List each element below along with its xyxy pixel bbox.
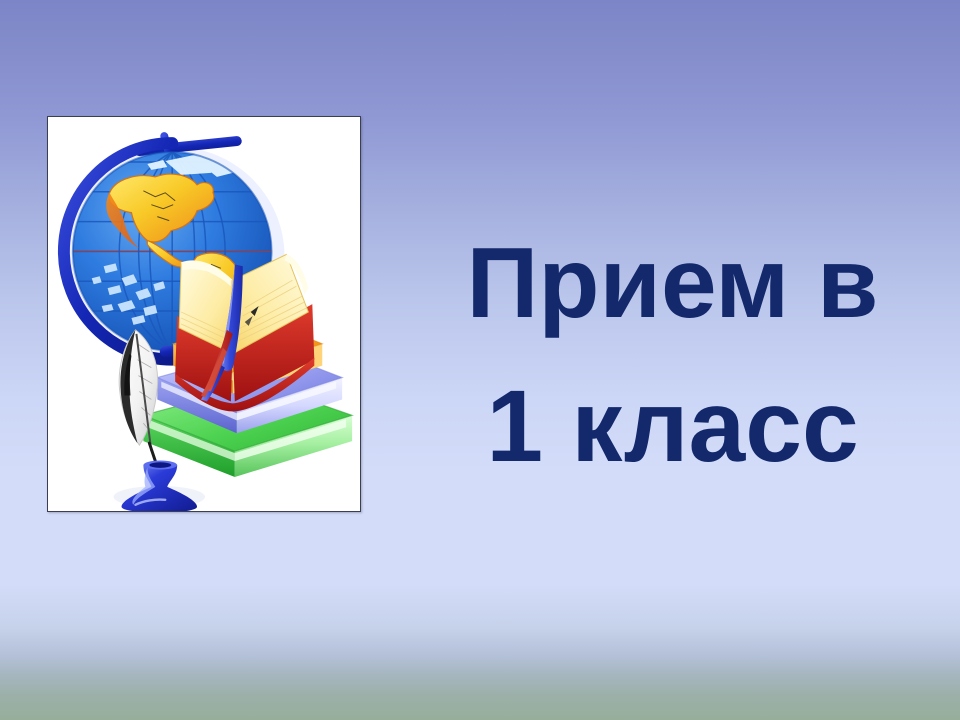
presentation-slide: Прием в 1 класс bbox=[0, 0, 960, 720]
title-line-2: 1 класс bbox=[486, 354, 858, 499]
clipart-picture-frame[interactable] bbox=[47, 116, 361, 512]
slide-title: Прием в 1 класс bbox=[400, 205, 945, 505]
title-line-1: Прием в bbox=[467, 212, 879, 354]
school-supplies-clipart bbox=[48, 117, 360, 511]
